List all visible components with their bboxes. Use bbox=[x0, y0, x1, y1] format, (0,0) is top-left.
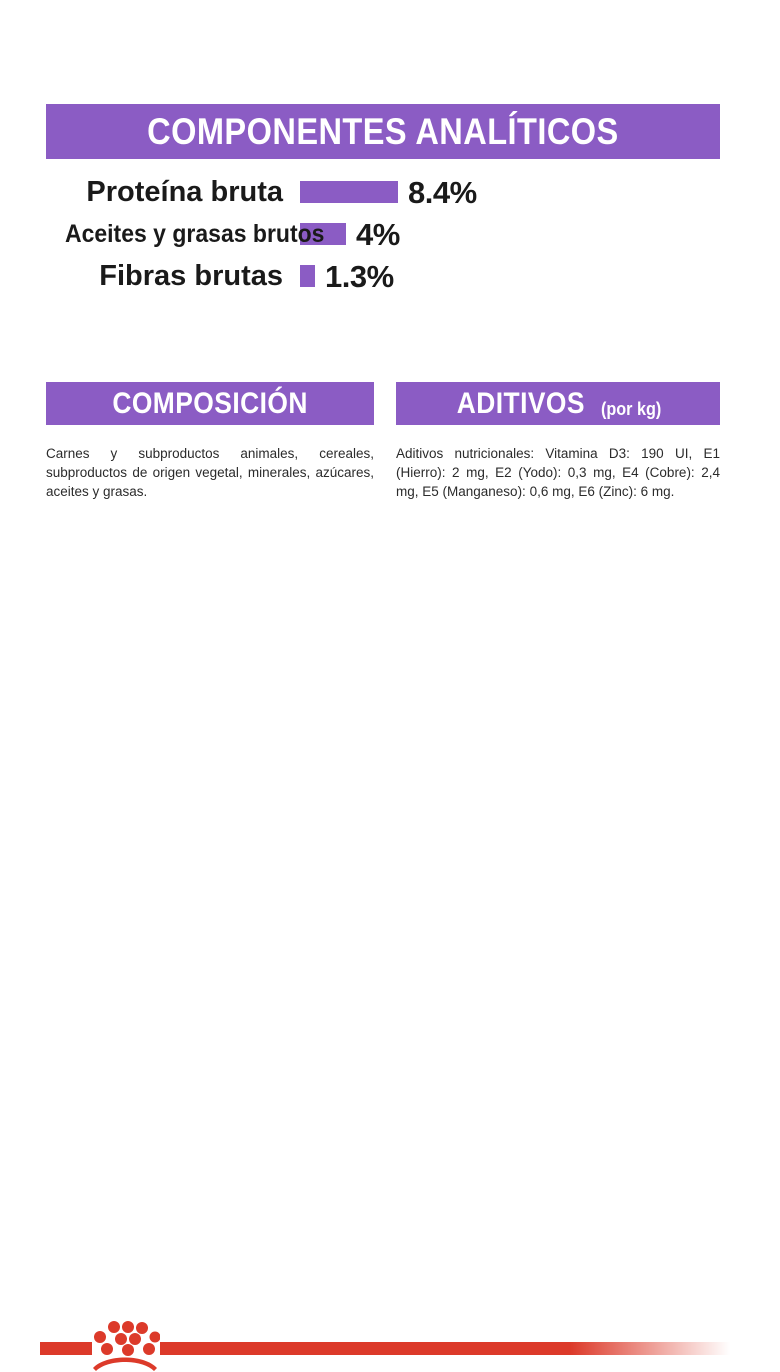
nutrient-value-fats: 4% bbox=[356, 219, 400, 250]
table-row: Fibras brutas 1.3% bbox=[46, 256, 720, 296]
composition-body-text: Carnes y subproductos animales, cereales… bbox=[46, 444, 374, 501]
nutrient-label-protein: Proteína bruta bbox=[46, 178, 283, 207]
footer-rule-left bbox=[40, 1342, 92, 1355]
nutrient-bar-group-fibre: 1.3% bbox=[300, 261, 394, 292]
composition-header-banner: COMPOSICIÓN bbox=[46, 382, 374, 425]
composition-heading: COMPOSICIÓN bbox=[112, 389, 308, 419]
nutrient-label-fibre: Fibras brutas bbox=[46, 262, 283, 291]
additives-heading-unit: (por kg) bbox=[601, 400, 661, 418]
table-row: Aceites y grasas brutos 4% bbox=[46, 214, 720, 254]
nutrition-label-page: COMPONENTES ANALÍTICOS Proteína bruta 8.… bbox=[0, 0, 780, 780]
additives-heading: ADITIVOS bbox=[457, 389, 585, 419]
table-row: Proteína bruta 8.4% bbox=[46, 172, 720, 212]
nutrient-value-protein: 8.4% bbox=[408, 177, 477, 208]
footer-rule-right bbox=[160, 1342, 730, 1355]
brand-footer bbox=[0, 655, 780, 735]
nutrient-value-fibre: 1.3% bbox=[325, 261, 394, 292]
nutrient-bar-group-protein: 8.4% bbox=[300, 177, 477, 208]
analytical-header-banner: COMPONENTES ANALÍTICOS bbox=[46, 104, 720, 159]
nutrient-bar-fibre bbox=[300, 265, 315, 287]
nutrient-label-fats: Aceites y grasas brutos bbox=[65, 222, 283, 247]
analytical-heading: COMPONENTES ANALÍTICOS bbox=[147, 113, 619, 150]
royal-canin-crown-logo bbox=[90, 1318, 160, 1372]
analytical-values-list: Proteína bruta 8.4% Aceites y grasas bru… bbox=[46, 172, 720, 298]
nutrient-bar-protein bbox=[300, 181, 398, 203]
additives-heading-group: ADITIVOS (por kg) bbox=[448, 389, 668, 419]
additives-header-banner: ADITIVOS (por kg) bbox=[396, 382, 720, 425]
additives-body-text: Aditivos nutricionales: Vitamina D3: 190… bbox=[396, 444, 720, 501]
